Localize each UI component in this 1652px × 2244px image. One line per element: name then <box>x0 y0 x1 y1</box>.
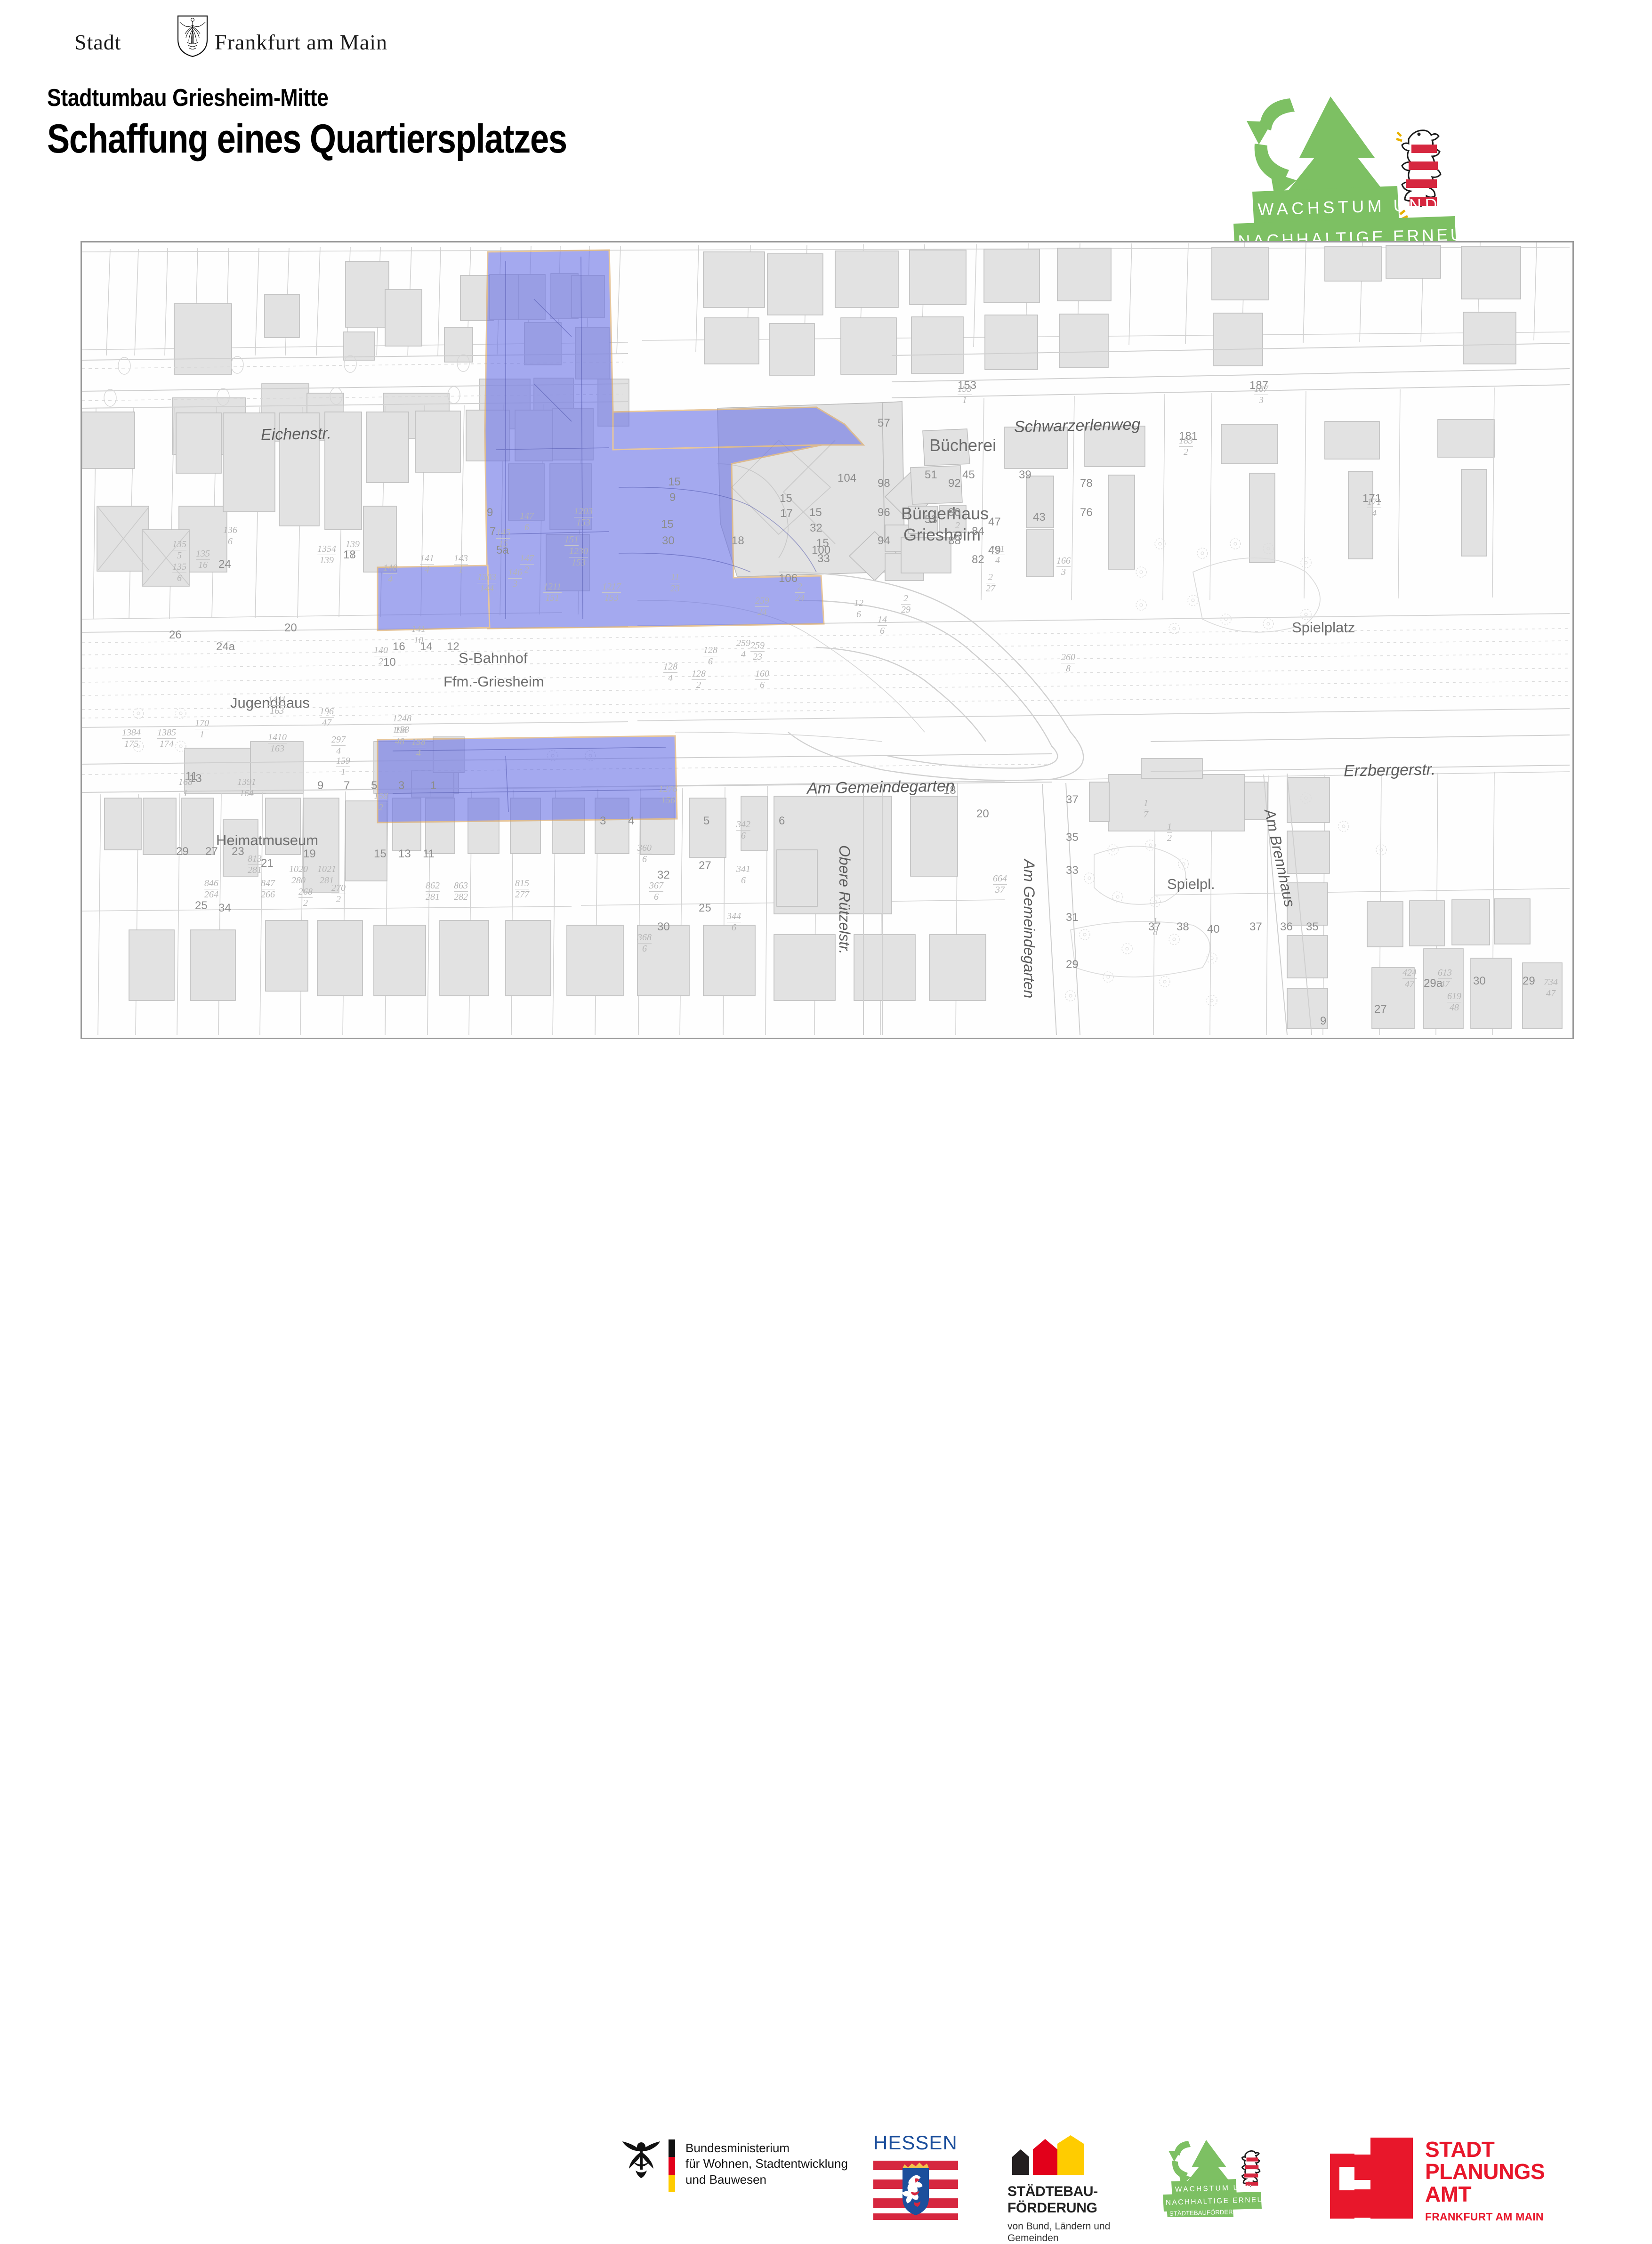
parcel-number: 227 <box>986 572 995 594</box>
house-number: 3 <box>600 815 606 828</box>
parcel-number: 3676 <box>649 880 663 903</box>
parcel-number: 66437 <box>993 873 1007 896</box>
parcel-number: 2608 <box>1061 652 1075 674</box>
house-number: 53 <box>925 513 937 526</box>
parcel-number: 1284 <box>663 662 677 684</box>
house-number: 24 <box>218 558 231 571</box>
parcel-number: 1282 <box>692 669 706 691</box>
house-number: 27 <box>1374 1003 1387 1016</box>
city-logo-word-frankfurt: Frankfurt am Main <box>215 30 387 55</box>
house-number: 7 <box>344 779 350 792</box>
parcel-number: 1020280 <box>289 864 308 886</box>
staedtebaufoerderung-logo: STÄDTEBAU- FÖRDERUNG von Bund, Ländern u… <box>1007 2135 1110 2244</box>
page-header: Stadt Frankfurt am Main Stadt <box>0 0 1652 235</box>
bmwsb-logo: Bundesministerium für Wohnen, Stadtentwi… <box>621 2138 848 2192</box>
parcel-number: 1366 <box>223 525 237 547</box>
hessen-lion-icon <box>1242 2151 1260 2186</box>
parcel-number: 3606 <box>637 843 652 865</box>
house-number: 32 <box>810 522 822 535</box>
parcel-number: 1476 <box>520 511 534 533</box>
house-number: 15 <box>374 848 387 861</box>
house-number: 9 <box>317 779 323 792</box>
parcel-number: 25923 <box>750 640 765 662</box>
parcel-number: 1391 <box>346 539 360 561</box>
parcel-number: 229 <box>901 593 911 615</box>
parcel-number: 1217153 <box>602 581 621 604</box>
hessen-state-logo: HESSEN <box>873 2131 958 2222</box>
parcel-number: 1355 <box>172 539 186 561</box>
house-number: 29 <box>1066 958 1079 971</box>
house-number: 98 <box>878 477 890 490</box>
parcel-number: 1701 <box>195 718 209 740</box>
parcel-number: 1211151 <box>543 581 562 604</box>
parcel-number: 1714 <box>1367 497 1381 519</box>
parcel-number: 19648 <box>393 725 407 747</box>
planning-area-east-spur <box>613 407 863 450</box>
parcel-number: 19647 <box>320 706 334 728</box>
parcel-number: 25924 <box>755 596 769 618</box>
house-number: 23 <box>232 845 244 858</box>
hessen-wordmark: HESSEN <box>873 2131 958 2154</box>
house-number: 37 <box>1249 920 1262 934</box>
house-number: 76 <box>1080 506 1093 519</box>
parcel-number: 42447 <box>1402 968 1417 990</box>
house-number: 35 <box>1306 920 1319 934</box>
title-block: Stadtumbau Griesheim-Mitte Schaffung ein… <box>47 84 666 160</box>
parcel-number: 2594 <box>736 638 750 660</box>
parcel-number: 1286 <box>703 645 717 667</box>
house-number: 43 <box>1033 511 1046 524</box>
parcel-number: 1663 <box>1056 556 1071 578</box>
parcel-number: 1230153 <box>569 546 588 568</box>
parcel-number: 3416 <box>736 864 750 886</box>
house-number: 13 <box>398 848 411 861</box>
house-number: 6 <box>779 815 785 828</box>
parcel-number: 224 <box>795 581 805 604</box>
house-number: 84 <box>972 525 984 538</box>
city-of-frankfurt-logo: Stadt Frankfurt am Main <box>66 21 377 57</box>
parcel-number: 13516 <box>196 549 210 571</box>
spa-line3: AMT <box>1425 2183 1545 2205</box>
spa-sub: FRANKFURT AM MAIN <box>1425 2211 1545 2223</box>
parcel-number: 1384175 <box>122 727 141 750</box>
staedtebau-line2: FÖRDERUNG <box>1007 2200 1110 2217</box>
bmwsb-line1: Bundesministerium <box>685 2140 848 2156</box>
house-number: 30 <box>657 920 670 934</box>
parcel-number: 229 <box>953 520 962 542</box>
wachstum-erneuerung-logo-small: WACHSTUM UND NACHHALTIGE ERNEUERUNG STÄD… <box>1163 2136 1314 2220</box>
spa-line1: STADT <box>1425 2139 1545 2161</box>
frankfurt-eagle-crest-icon <box>177 15 208 57</box>
parcel-number: 73447 <box>1544 977 1558 999</box>
parcel-number: 847266 <box>261 878 275 900</box>
staedtebau-sub1: von Bund, Ländern und <box>1007 2220 1110 2232</box>
staedtebau-sub2: Gemeinden <box>1007 2232 1110 2244</box>
house-number: 25 <box>195 899 208 912</box>
house-number: 5 <box>703 815 709 828</box>
parcel-number: 1472 <box>520 553 534 575</box>
house-number: 36 <box>1280 920 1293 934</box>
parcel-number: 1356 <box>172 562 186 584</box>
house-number: 45 <box>962 468 975 482</box>
house-number: 15 <box>668 476 681 489</box>
house-number: 15 <box>809 506 822 519</box>
parcel-number: 1681 <box>178 777 193 799</box>
house-number: 26 <box>169 629 182 642</box>
house-number: 94 <box>878 534 890 548</box>
parcel-number: 14515 <box>496 527 510 549</box>
recycle-arrow-icon <box>1168 2141 1191 2185</box>
house-number: 24a <box>216 640 235 654</box>
house-number: 7 <box>490 525 496 538</box>
house-number: 1 <box>430 779 436 792</box>
parcel-number: 1303144 <box>477 572 496 594</box>
house-number: 15 <box>780 492 792 505</box>
house-number: 51 <box>925 468 937 482</box>
parcel-number: 1385174 <box>157 727 176 750</box>
parcel-number: 1614 <box>991 544 1005 566</box>
house-number: 27 <box>205 845 218 858</box>
page-subtitle: Stadtumbau Griesheim-Mitte <box>47 84 579 112</box>
parcel-number: 61347 <box>1438 968 1452 990</box>
recycle-arrow-icon <box>1247 98 1297 198</box>
parcel-number: 3426 <box>736 819 750 841</box>
house-number: 29 <box>1523 975 1535 988</box>
parcel-number: 1203153 <box>574 506 593 528</box>
parcel-number: 1354139 <box>317 544 336 566</box>
house-number: 20 <box>284 622 297 635</box>
house-number: 25 <box>699 902 711 915</box>
parcel-number: 17 <box>1144 798 1148 820</box>
house-number: 29 <box>176 845 189 858</box>
parcel-number: 1402 <box>374 645 388 667</box>
house-number: 96 <box>878 506 890 519</box>
house-number: 19 <box>303 848 316 861</box>
house-number: 12 <box>447 640 459 654</box>
spa-line2: PLANUNGS <box>1425 2161 1545 2183</box>
house-number: 21 <box>261 857 274 870</box>
house-number: 16 <box>393 640 405 654</box>
parcel-number: 862281 <box>426 880 440 903</box>
svg-text:WACHSTUM UND: WACHSTUM UND <box>1175 2183 1254 2194</box>
house-number: 30 <box>1473 975 1486 988</box>
stadtplanungsamt-logo: STADT PLANUNGS AMT FRANKFURT AM MAIN <box>1330 2138 1545 2223</box>
house-number: 15 <box>661 518 674 531</box>
house-number: 82 <box>972 553 984 566</box>
house-number: 18 <box>732 534 744 548</box>
house-number: 39 <box>1019 468 1031 482</box>
house-number: 37 <box>1066 793 1079 807</box>
map-drawing <box>82 242 1570 1035</box>
house-number: 11 <box>423 848 435 861</box>
parcel-number: 1584 <box>411 737 426 759</box>
parcel-number: 1873 <box>1254 384 1268 406</box>
house-number: 90 <box>948 506 961 519</box>
house-number: 100 <box>812 544 830 557</box>
parcel-number: 813281 <box>248 854 262 876</box>
house-number: 27 <box>699 859 711 872</box>
house-number: 17 <box>780 507 793 520</box>
parcel-number: 1832 <box>1179 436 1193 458</box>
house-number: 9 <box>669 491 676 504</box>
house-number: 35 <box>1066 831 1079 844</box>
three-houses-icon <box>1009 2135 1084 2175</box>
parcel-number: 2974 <box>331 735 346 757</box>
parcel-number: 1410163 <box>268 732 287 754</box>
house-number: 40 <box>1207 923 1220 936</box>
house-number: 4 <box>628 815 634 828</box>
parcel-number: 14110 <box>411 624 426 646</box>
parcel-number: 1391164 <box>237 777 256 799</box>
staedtebau-line1: STÄDTEBAU- <box>1007 2184 1110 2200</box>
parcel-number: 1123 <box>670 572 680 594</box>
parcel-number: 863282 <box>454 880 468 903</box>
parcel-number: 1404 <box>383 563 397 585</box>
parcel-number: 846264 <box>204 878 218 900</box>
city-logo-word-stadt: Stadt <box>74 30 121 55</box>
parcel-number: 61948 <box>1447 991 1461 1013</box>
house-number: 32 <box>657 869 670 882</box>
house-number: 104 <box>838 472 856 485</box>
house-number: 3 <box>398 779 404 792</box>
parcel-number: 1531 <box>958 384 972 406</box>
parcel-number: 1606 <box>755 669 769 691</box>
bmwsb-line2: für Wohnen, Stadtentwicklung <box>685 2156 848 2171</box>
house-number: 9 <box>487 506 493 519</box>
parcel-number: 1411163 <box>268 694 286 717</box>
house-number: 20 <box>976 807 989 821</box>
house-number: 5 <box>371 779 377 792</box>
spa-f-mark-icon <box>1330 2138 1413 2219</box>
bundesadler-icon <box>621 2138 661 2183</box>
page-title: Schaffung eines Quartiersplatzes <box>47 119 567 160</box>
cadastral-map[interactable]: Eichenstr.SchwarzerlenwegAm Gemeindegart… <box>81 241 1574 1039</box>
house-number: 33 <box>1066 864 1079 877</box>
parcel-number: 815277 <box>515 878 529 900</box>
hessen-coat-of-arms-icon <box>873 2158 958 2220</box>
parcel-number: 3686 <box>637 932 652 954</box>
parcel-number: 2702 <box>331 883 346 905</box>
house-number: 30 <box>662 534 675 548</box>
house-number: 31 <box>1066 911 1079 924</box>
parcel-number: 126 <box>854 598 863 620</box>
house-number: 47 <box>988 516 1001 529</box>
parcel-number: 1021281 <box>317 864 336 886</box>
house-number: 38 <box>1177 920 1189 934</box>
parcel-number: 2682 <box>298 887 313 909</box>
house-number: 9 <box>1320 1015 1326 1028</box>
parcel-number: 1591 <box>336 756 350 778</box>
parcel-number: 1276156 <box>659 784 677 806</box>
footer-logo-bar: Bundesministerium für Wohnen, Stadtentwi… <box>0 1062 1652 1168</box>
parcel-number: 1414 <box>420 553 434 575</box>
house-number: 34 <box>218 902 231 915</box>
house-number: 78 <box>1080 477 1093 490</box>
house-number: 18 <box>943 784 956 797</box>
parcel-number: 18 <box>1153 916 1158 938</box>
parcel-number: 1582 <box>374 791 388 813</box>
parcel-number: 12 <box>1167 822 1172 844</box>
bmwsb-line3: und Bauwesen <box>685 2172 848 2187</box>
parcel-number: 1431 <box>454 553 468 575</box>
parcel-number: 146 <box>878 614 887 637</box>
house-number: 57 <box>878 417 890 430</box>
parcel-number: 3446 <box>727 911 741 933</box>
house-number: 92 <box>948 477 961 490</box>
